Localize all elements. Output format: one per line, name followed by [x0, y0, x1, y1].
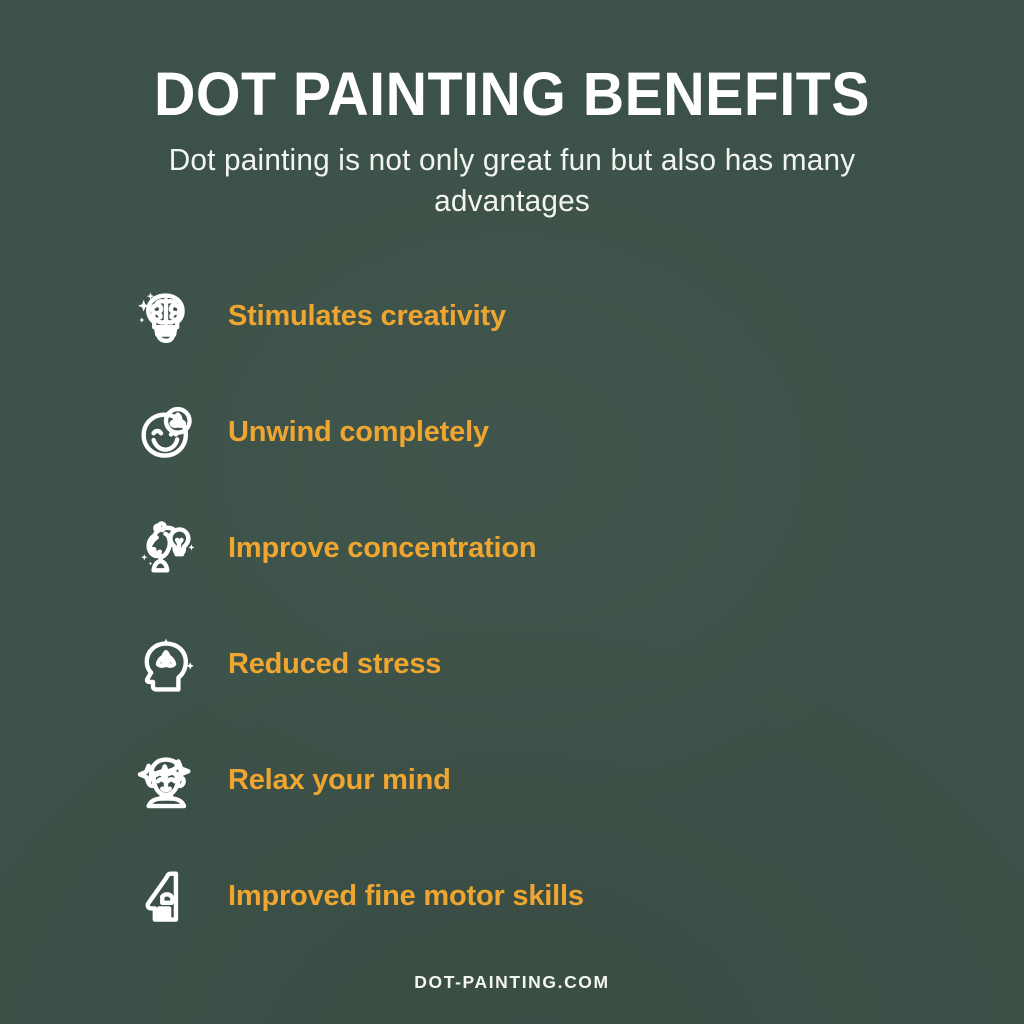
smiling-face-flower-icon: [132, 398, 200, 466]
list-item: Stimulates creativity: [132, 282, 932, 350]
list-item: Unwind completely: [132, 398, 932, 466]
benefit-label: Improved fine motor skills: [228, 880, 584, 913]
page-title: DOT PAINTING BENEFITS: [31, 62, 994, 126]
benefit-label: Improve concentration: [228, 532, 536, 565]
benefit-label: Reduced stress: [228, 648, 441, 681]
poster-header: DOT PAINTING BENEFITS Dot painting is no…: [0, 62, 1024, 222]
head-profile-lightbulb-icon: [132, 514, 200, 582]
infographic-poster: DOT PAINTING BENEFITS Dot painting is no…: [0, 0, 1024, 1024]
list-item: Reduced stress: [132, 630, 932, 698]
list-item: Improved fine motor skills: [132, 862, 932, 930]
page-subtitle: Dot painting is not only great fun but a…: [157, 140, 867, 222]
footer-website: DOT-PAINTING.COM: [0, 972, 1024, 993]
benefit-label: Stimulates creativity: [228, 300, 506, 333]
benefit-label: Relax your mind: [228, 764, 451, 797]
lightbulb-brain-icon: [132, 282, 200, 350]
benefit-label: Unwind completely: [228, 416, 489, 449]
head-lotus-icon: [132, 630, 200, 698]
benefits-list: Stimulates creativity: [132, 282, 932, 930]
relaxed-face-stars-icon: [132, 746, 200, 814]
list-item: Improve concentration: [132, 514, 932, 582]
list-item: Relax your mind: [132, 746, 932, 814]
hand-holding-object-icon: [132, 862, 200, 930]
